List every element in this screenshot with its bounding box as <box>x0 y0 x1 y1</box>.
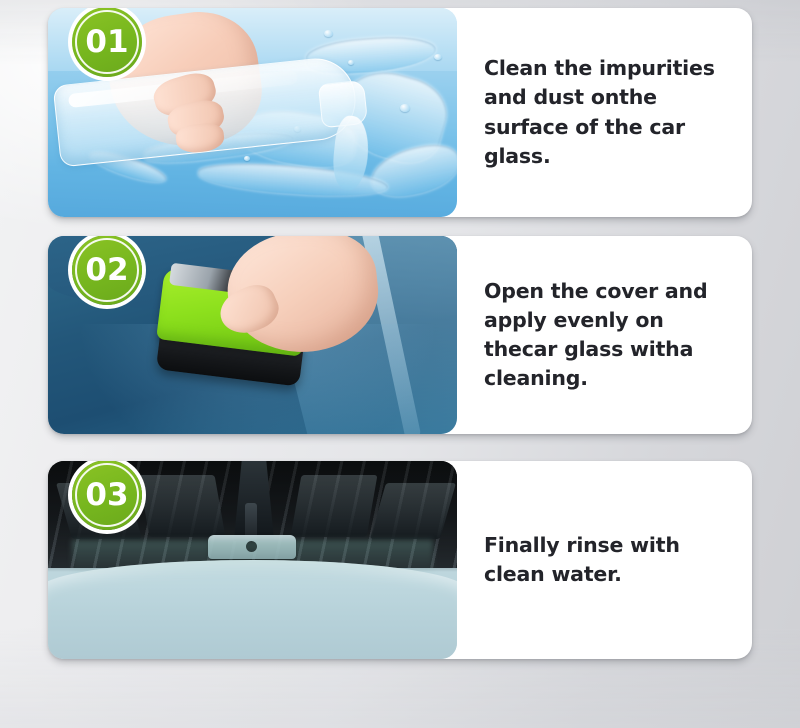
water-droplet <box>348 60 354 65</box>
step-card-01: 01 Clean the impurities and dust onthe s… <box>48 8 752 217</box>
step-card-03: 03 Finally rinse with clean water. <box>48 461 752 659</box>
step-badge-02: 02 <box>72 236 142 305</box>
green-applicator-photo: 02 <box>48 236 457 434</box>
step-description-01: Clean the impurities and dust onthe surf… <box>484 54 726 170</box>
step-description-03: Finally rinse with clean water. <box>484 531 726 589</box>
step-text-pane-02: Open the cover and apply evenly on theca… <box>457 236 752 434</box>
water-droplet <box>434 54 442 60</box>
step-number-label: 02 <box>85 255 128 286</box>
water-droplet <box>244 156 250 161</box>
step-text-pane-03: Finally rinse with clean water. <box>457 461 752 659</box>
step-text-pane-01: Clean the impurities and dust onthe surf… <box>457 8 752 217</box>
step-description-02: Open the cover and apply evenly on theca… <box>484 277 726 393</box>
instruction-steps-list: 01 Clean the impurities and dust onthe s… <box>0 0 800 728</box>
water-droplet <box>324 30 333 37</box>
step-badge-01: 01 <box>72 8 142 77</box>
step-number-label: 03 <box>85 480 128 511</box>
pouring-water-photo: 01 <box>48 8 457 217</box>
glass-tint-band <box>72 540 433 576</box>
step-number-label: 01 <box>85 27 128 58</box>
roof-louver <box>139 475 226 537</box>
roof-louver <box>291 475 378 537</box>
step-card-02: 02 Open the cover and apply evenly on th… <box>48 236 752 434</box>
step-badge-03: 03 <box>72 461 142 530</box>
water-droplet <box>400 104 410 112</box>
windshield-interior-photo: 03 <box>48 461 457 659</box>
